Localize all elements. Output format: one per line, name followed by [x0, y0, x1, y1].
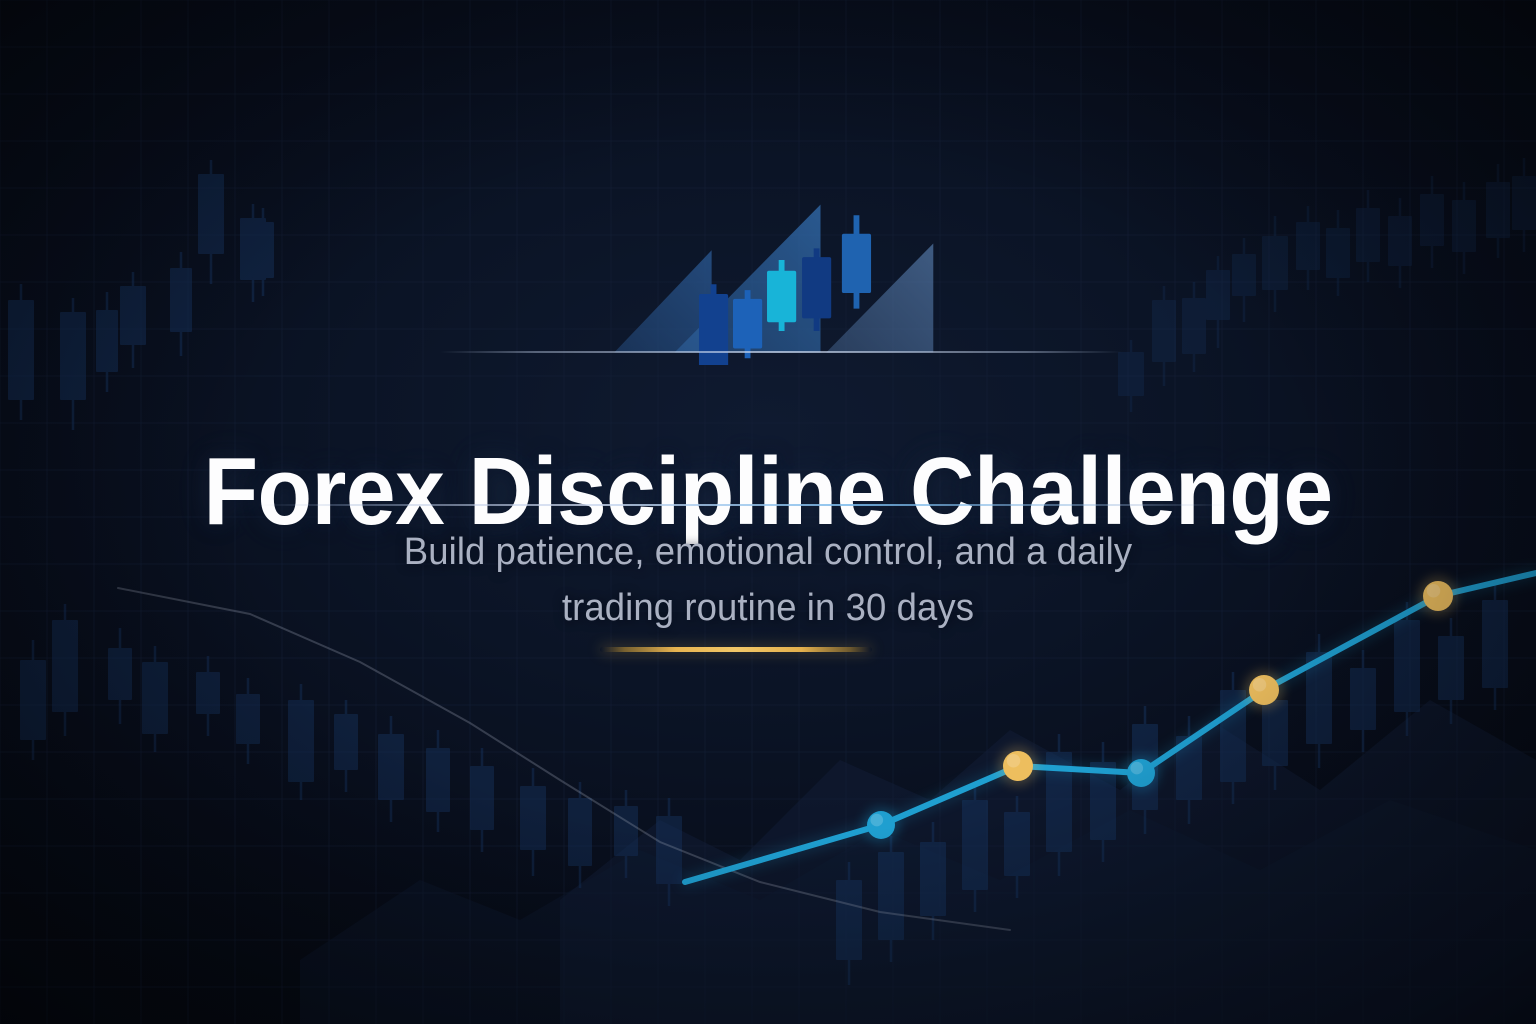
page-subtitle: Build patience, emotional control, and a…	[31, 525, 1506, 637]
divider-top	[440, 351, 1122, 353]
accent-divider-gold	[600, 647, 872, 652]
hero-content: Forex Discipline Challenge Build patienc…	[0, 0, 1536, 1024]
divider-under-title	[258, 504, 1232, 506]
subtitle-line-1: Build patience, emotional control, and a…	[31, 525, 1506, 581]
hero-banner: Forex Discipline Challenge Build patienc…	[0, 0, 1536, 1024]
subtitle-line-2: trading routine in 30 days	[31, 581, 1506, 637]
logo-candlestick-icon	[568, 190, 968, 365]
